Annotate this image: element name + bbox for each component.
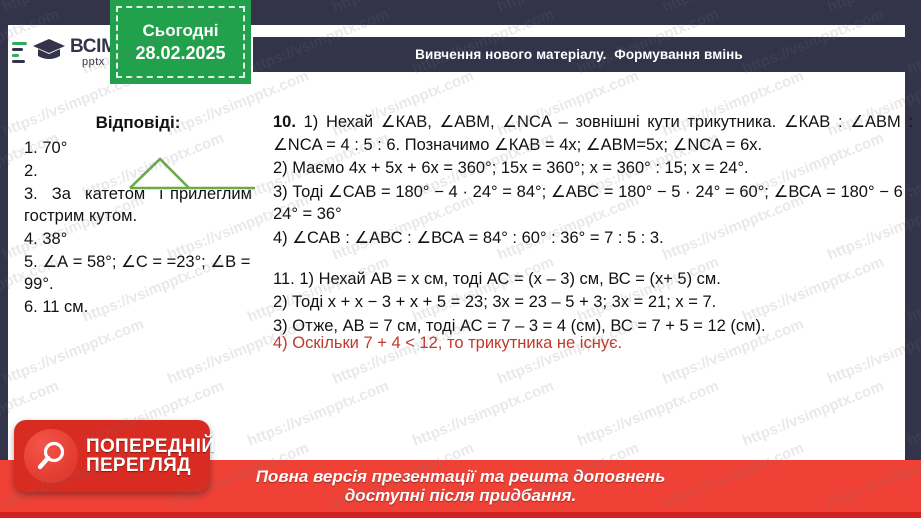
today-label: Сьогодні: [143, 21, 219, 41]
preview-button[interactable]: ПОПЕРЕДНІЙ ПЕРЕГЛЯД: [14, 420, 210, 492]
promo-line-2: доступні після придбання.: [345, 486, 576, 505]
preview-button-label: ПОПЕРЕДНІЙ ПЕРЕГЛЯД: [86, 437, 215, 476]
answer-item: 2.: [24, 161, 252, 183]
answer-item: 3. За катетом і прилеглим гострим кутом.: [24, 184, 252, 228]
section-header-title: Вивчення нового матеріалу. Формування вм…: [415, 47, 743, 62]
task-line-text: 1) Нехай АВ = х см, тоді АС = (х – 3) см…: [299, 270, 721, 288]
task-line: 3) Тоді ∠САВ = 180° − 4 · 24° = 84°; ∠АВ…: [273, 181, 913, 226]
watermark-text: https://vsimpptx.com: [330, 0, 476, 16]
logo-speed-lines: [12, 42, 27, 63]
answers-panel: Відповіді: 1. 70° 2. 3. За катетом і при…: [24, 113, 252, 320]
task-number: 10.: [273, 113, 296, 131]
task-line: 4) ∠САВ : ∠АВС : ∠ВСА = 84° : 60° : 36° …: [273, 227, 913, 250]
watermark-text: https://vsimpptx.com: [825, 0, 921, 16]
answer-item: 4. 38°: [24, 229, 252, 251]
promo-line-1: Повна версія презентації та решта доповн…: [256, 467, 666, 486]
today-date: 28.02.2025: [135, 43, 225, 64]
slide-frame: Відповіді: 1. 70° 2. 3. За катетом і при…: [0, 0, 921, 518]
answer-item: 5. ∠А = 58°; ∠С = =23°; ∠В = 99°.: [24, 252, 252, 296]
watermark-text: https://vsimpptx.com: [660, 0, 806, 16]
answer-item: 1. 70°: [24, 138, 252, 160]
task-line: 2) Маємо 4х + 5х + 6х = 360°; 15х = 360°…: [273, 157, 913, 180]
section-header-bar: Вивчення нового матеріалу. Формування вм…: [253, 37, 905, 72]
task-line: 10. 1) Нехай ∠КАВ, ∠АВМ, ∠NCA – зовнішні…: [273, 111, 913, 156]
preview-word-1: ПОПЕРЕДНІЙ: [86, 437, 215, 456]
task-line: 11. 1) Нехай АВ = х см, тоді АС = (х – 3…: [273, 268, 913, 291]
preview-word-2: ПЕРЕГЛЯД: [86, 456, 215, 475]
task-line-text: 1) Нехай ∠КАВ, ∠АВМ, ∠NCA – зовнішні кут…: [273, 113, 913, 154]
answers-title: Відповіді:: [24, 113, 252, 133]
watermark-text: https://vsimpptx.com: [905, 377, 921, 449]
task-number: 11.: [273, 270, 295, 288]
magnifier-icon: [24, 429, 78, 483]
graduation-cap-icon: [32, 35, 66, 69]
paragraph-spacer: [273, 251, 913, 268]
today-date-badge: Сьогодні 28.02.2025: [110, 0, 251, 84]
task-line-obscured: 4) Оскільки 7 + 4 < 12, то трикутника не…: [273, 332, 913, 355]
task-line: 2) Тоді х + х − 3 + х + 5 = 23; 3х = 23 …: [273, 291, 913, 314]
brand-logo[interactable]: ВСІМ pptx: [12, 28, 117, 76]
solution-panel: 10. 1) Нехай ∠КАВ, ∠АВМ, ∠NCA – зовнішні…: [273, 111, 913, 338]
watermark-text: https://vsimpptx.com: [495, 0, 641, 16]
answer-item: 6. 11 см.: [24, 297, 252, 319]
watermark-text: https://vsimpptx.com: [905, 5, 921, 77]
